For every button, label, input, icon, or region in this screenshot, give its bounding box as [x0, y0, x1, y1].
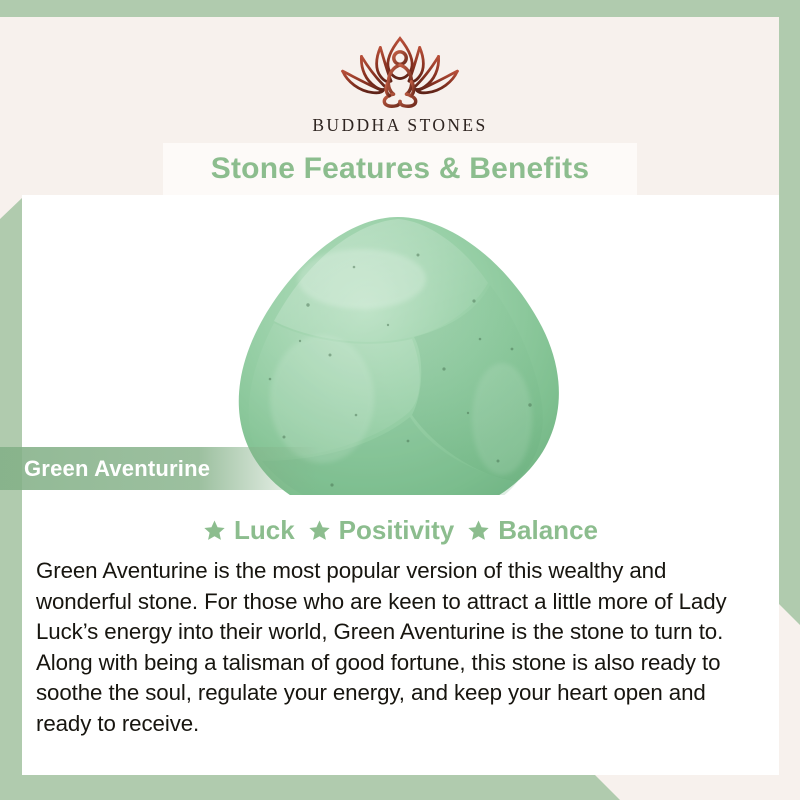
feature-item-positivity: Positivity: [308, 515, 455, 546]
frame-top-bar: [0, 0, 800, 17]
frame-left-bar: [0, 198, 22, 800]
feature-label-luck: Luck: [234, 515, 295, 546]
feature-item-luck: Luck: [203, 515, 295, 546]
section-title-banner: Stone Features & Benefits: [163, 143, 637, 195]
stone-name-label: Green Aventurine: [24, 456, 210, 482]
lotus-meditation-icon: [315, 31, 485, 113]
brand-name: BUDDHA STONES: [312, 115, 487, 136]
star-icon: [308, 519, 331, 542]
star-icon: [203, 519, 226, 542]
details-panel: Luck Positivity Balance Green Aventurine…: [22, 495, 779, 775]
page-title: Stone Features & Benefits: [211, 152, 589, 186]
feature-label-positivity: Positivity: [339, 515, 455, 546]
feature-label-balance: Balance: [498, 515, 598, 546]
stone-description: Green Aventurine is the most popular ver…: [36, 556, 765, 739]
frame-bottom-bar: [0, 774, 620, 800]
brand-header: BUDDHA STONES: [0, 17, 800, 145]
stone-name-badge: Green Aventurine: [0, 447, 320, 490]
infographic-canvas: BUDDHA STONES: [0, 0, 800, 800]
feature-item-balance: Balance: [467, 515, 598, 546]
star-icon: [467, 519, 490, 542]
feature-list: Luck Positivity Balance: [22, 495, 779, 546]
